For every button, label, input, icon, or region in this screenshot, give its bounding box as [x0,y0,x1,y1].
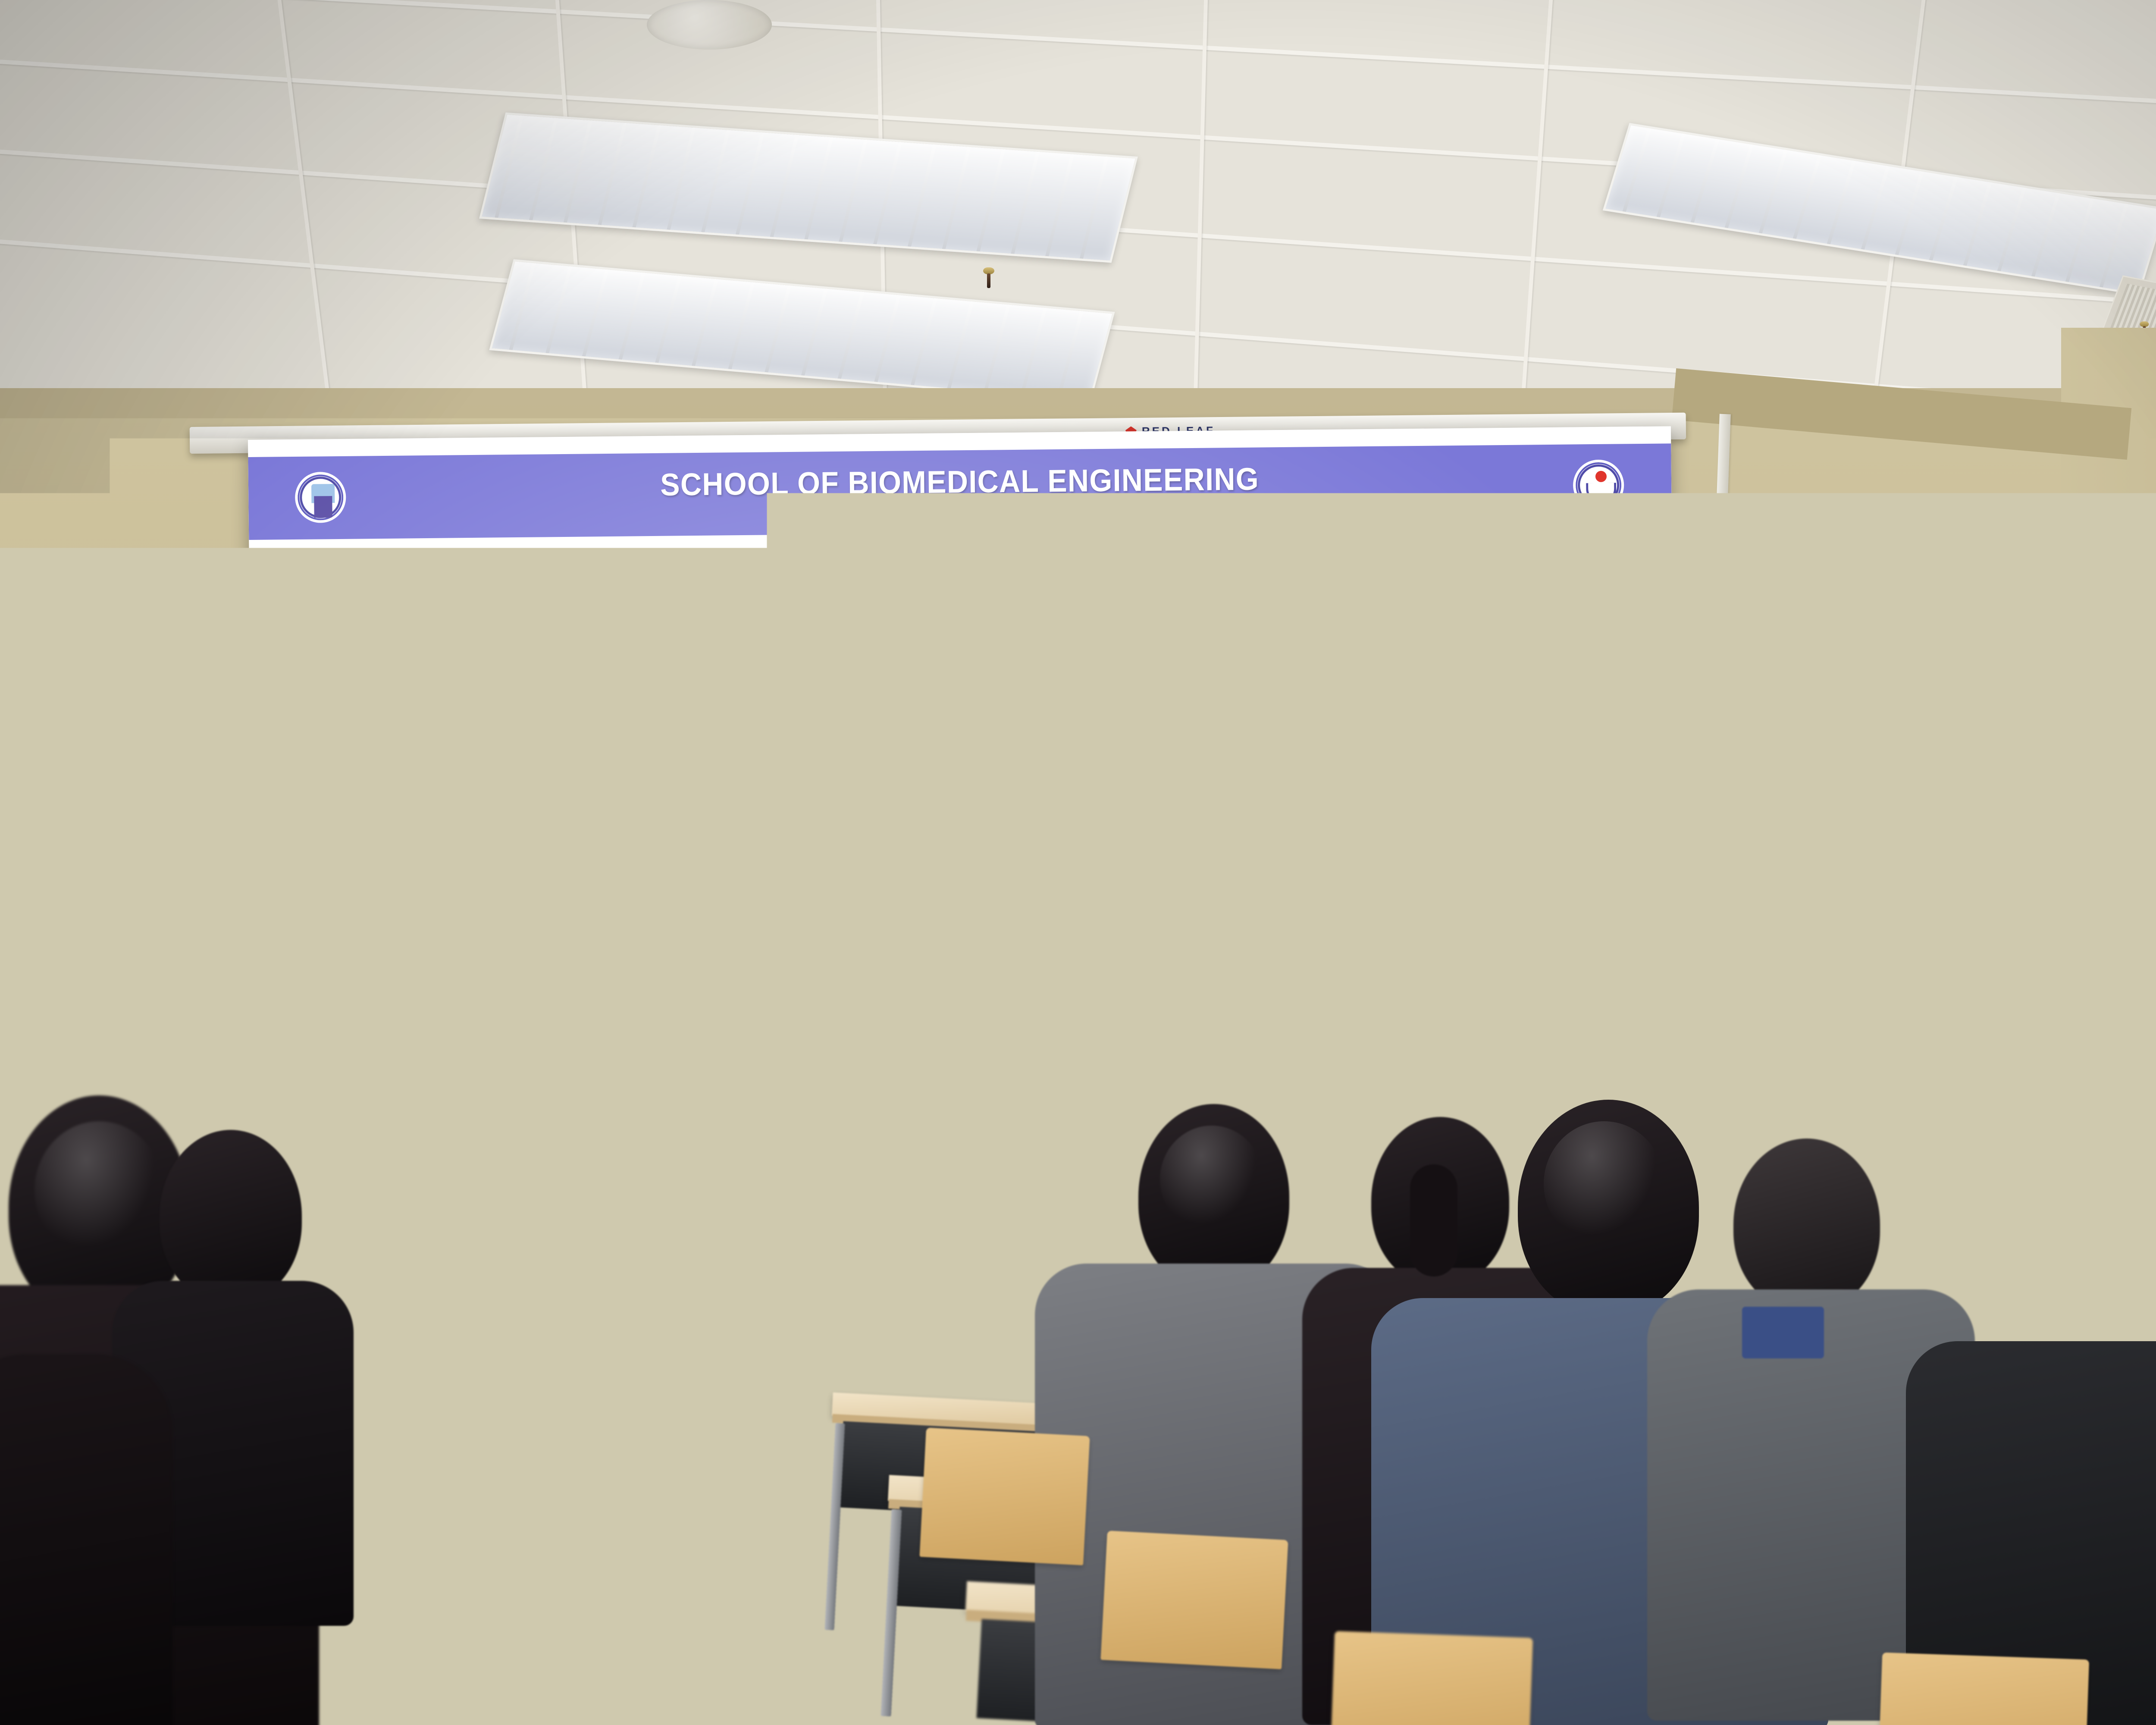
leader-photo [473,554,535,653]
staff-card: VÕ HỒNG PHÚC Laboratory Technician Email… [846,1005,900,1069]
faculty-card: HÀ THỊ THANH HƯƠNG Department Chair PhD,… [784,637,865,750]
faculty-name: HÀ THỊ THANH HƯƠNG [785,685,865,693]
staff-role: Laboratory Technician [710,1068,764,1073]
faculty-research-item: Image processing, laser, optical enginee… [381,811,458,816]
faculty-name: LÊ NGỌC BÍCH [461,761,539,768]
staff-name: PHẠM KHÔI NGUYÊN [1119,1050,1173,1063]
staff-email: Email: pknguyen@hcmiu.edu.vn [1119,1069,1173,1073]
secretary-card: NGUYỄN HOÀNG THÙY KHANH Secretary Email:… [441,1010,502,1084]
faculty-card: TRỊNH NHƯ THÙY PhD, Lecturer Email: tnth… [958,721,1036,821]
staff-email: Email: nttha@hcmiu.edu.vn [1051,1069,1105,1074]
secretary-card: NGUYỄN THỊ HỒNG NHUNG Secretary Email: n… [379,1011,441,1085]
leader-photo [909,549,970,649]
wall-camera-icon [1728,630,1804,668]
faculty-card: NGUYỄN THÀNH QUÁ PhD, Lecturer Email: nt… [542,715,620,819]
staff-email: Email: dntnhi@hcmiu.edu.vn [710,1073,764,1077]
leader-role: Dean [745,565,902,579]
leader-name: VÒNG BÍNH LONG [1176,546,1324,561]
faculty-research-item: Biomaterials and Scaffolds [872,817,950,822]
whiteboard-magnets[interactable] [1988,692,2003,759]
staff-card: LÊ PHƯƠNG HIỀN Teaching Assistant Email:… [914,1004,969,1075]
university-seal-icon [295,472,346,523]
faculty-research-item: Molecular biology [959,816,1036,821]
faculty-research-item: Sleep research, EEG analysis [786,745,865,750]
faculty-edu-item: Ph.D., Gachon University, Korea [959,797,1036,803]
faculty-research-item: Brain Mapping, Neuroimaging, Alzheimer a… [786,737,865,746]
faculty-edu-item: Ph.D., National Cheng Kung Univ., Taiwan [294,728,373,733]
department-title: TISSUE ENGINEERING & REGENERATIVE MEDICI… [889,684,1179,696]
faculty-card: PHẠM THỊ THU HIỀN Department Chair Assoc… [293,640,374,769]
faculty-research-item: Sound absorption, laser, biue, pitch bre… [294,747,374,756]
faculty-edu-item: Ph.D., Chonnam National University, Kore… [872,798,950,803]
staff-name: NGUYỄN LÊ Ý [574,1055,628,1063]
faculty-chair-label: Department Chair [294,695,373,701]
faculty-name: HUỲNH CHẤN KHÔN [872,767,950,775]
faculty-email: Email: lnbich@hcmiu.edu.vn [461,773,539,778]
leadership-row: VÕ VĂN TỚI Vice-Provost for Life and Hea… [249,534,1673,673]
leader-research-item: In vitro - in vivo disease models [1177,638,1325,646]
staff-name: NGUYỄN THỊ THANH HÀ [1051,1051,1105,1064]
faculty-edu-item: Ph.D., National Taiwan University [543,795,620,800]
whiteboard-line-thermal: thermal Nanoimprinting [1719,843,1956,871]
staff-role: Laboratory Technician [1119,1064,1173,1069]
staff-name: LÊ PHƯƠNG HIỀN [915,1052,968,1066]
staff-name: NGUYỄN THỊ THANH NGỌC [778,1053,832,1067]
whiteboard-sticky-note: Lab [1947,920,1999,940]
faculty-email: Email: hckhon@hcmiu.edu.vn [872,780,950,784]
faculty-email: Email: tplong@hcmiu.edu.vn [1045,778,1122,783]
faculty-email: Email: ntlua@hcmiu.edu.vn [380,774,458,779]
leader-edu-item: Ph.D., Soonchunhyang University, Korea [746,617,902,624]
secretary-email: Email: nhtkhanh@hcmiu.edu.vn [441,1079,501,1084]
technical-staff-title: TECHNICAL & TEACHING STAFF [740,965,928,980]
staff-card: LƯƠNG ĐẠI TÍN Laboratory Technician Emai… [1187,1001,1241,1066]
leader-email: Email: vblong@hcmiu.edu.vn [1176,581,1324,587]
chair [1100,1531,1288,1669]
leader-email: Email: nthiep@hcmiu.edu.vn [745,586,902,592]
staff-email: Email: ldtin@hcmiu.edu.vn [1187,1061,1241,1066]
ceiling [0,0,2156,414]
staff-name: LƯƠNG ĐẠI TÍN [1187,1049,1241,1057]
staff-card: PHẠM KHÔI NGUYÊN Laboratory Technician E… [1119,1002,1173,1073]
faculty-name: TRƯƠNG PHƯỚC LONG [1044,766,1122,773]
projection-screen: SCHOOL OF BIOMEDICAL ENGINEERING "HIGH Q… [248,426,1679,1233]
secretary-card: TỪ THỊ TUYẾT NGA Secretary Email: tttnga… [318,1011,379,1079]
slide-subtitle: "HIGH QUALITY-SUSTAINABILITY-USEFULNESS" [654,502,1266,522]
staff-email: Email: vhphuc@hcmiu.edu.vn [846,1065,900,1069]
faculty-name: NGUYỄN THÀNH QUÁ [542,760,620,768]
faculty-edu-item: Ph.D., Chonnam National University, Kore… [624,794,702,800]
faculty-edu-item: Ph.D., Suwon University, Korea [381,797,458,802]
presenter-hair [1817,970,1915,1052]
faculty-email: Email: giangtl@gmail.com [624,772,701,776]
leader-edu-item: Ph.D., University of Tsukuba, Japan [1177,612,1325,620]
faculty-name: NGÔ THỊ LỤA [380,762,458,769]
staff-name: ĐẶNG NGỌC THẢO NHI [710,1054,764,1068]
faculty-research-item: Microneedle fabrication and biomedical a… [624,809,702,814]
leader-card: VÒNG BÍNH LONG Vice-Dean Assoc. Prof. Em… [1176,546,1392,647]
leader-photo [1331,546,1392,645]
staff-email: Email: nhhuy@hcmiu.edu.vn [1255,1067,1309,1072]
staff-card: NGUYỄN THỊ THANH HÀ Laboratory Technicia… [1050,1003,1105,1074]
staff-card: NGUYỄN LÊ Ý Laboratory Technician Email:… [573,1007,628,1072]
staff-card: LÊ THỊ THÙY TIÊN Teaching Assistant Emai… [982,1004,1037,1075]
staff-role: Laboratory Technician [1255,1063,1309,1068]
secretary-name: NGUYỄN THỊ HỒNG NHUNG [380,1061,440,1075]
staff-email: Email: nttngoc@hcmiu.edu.vn [778,1072,832,1076]
leader-name: VÕ VĂN TỚI [292,554,466,569]
leader-email: Email: vvtoi@hcmiu.edu.vn [292,594,466,601]
whiteboard-left [0,702,226,1006]
staff-email: Email: lphien@hcmiu.edu.vn [915,1071,968,1075]
faculty-email: Email: ptthien@hcmiu.edu.vn [294,706,373,710]
department-title: MEDICAL INSTRUMENTATION DEPARTMENT [399,679,592,690]
faculty-name: TRỊNH NHƯ THÙY [958,766,1036,774]
faculty-card: TRẦN LÊ GIANG PhD, Lecturer Email: giang… [623,714,702,818]
chair [919,1427,1090,1565]
leader-name: NGUYỄN THỊ HIỆP [745,550,902,565]
faculty-card: HUỲNH CHẤN KHÔN PhD, Lecturer Email: hck… [871,722,950,822]
staff-name: NGUYỄN HOÀNG HUY [1255,1048,1309,1062]
faculty-card: NGÔ THỊ LỤA PhD, Lecturer Email: ntlua@h… [380,716,458,816]
faculty-research-item: Cancer nanotherapy [1045,815,1122,820]
secretary-name: TỪ THỊ TUYẾT NGA [319,1062,379,1069]
classroom-scene: RED LEAF [0,0,2156,1725]
secretary-email: Email: tttnga@hcmiu.edu.vn [319,1074,379,1079]
secretary-email: Email: nthnhung@hcmiu.edu.vn [380,1080,440,1085]
staff-name: TRẦN NGỌC VIỆT [642,1054,696,1062]
staff-email: Email: lttien@hcmiu.edu.vn [983,1070,1037,1074]
fire-sprinkler [983,267,994,290]
whiteboard-line-uv: UV - Nanoimprinting [1733,800,1978,833]
leader-role: Vice-Dean [1176,561,1324,574]
school-emblem-icon [1573,459,1624,511]
faculty-research-item: Transdermal drug delivery via microneedl… [543,810,620,815]
staff-name: LÊ THỊ THÙY TIÊN [983,1051,1037,1065]
staff-email: Email: nly@hcmiu.edu.vn [574,1067,628,1072]
staff-email: Email: tnviet@hcmiu.edu.vn [642,1066,696,1071]
faculty-research-item: Micro/Nano sensor devices: optical fiber… [462,806,539,816]
leader-role: Vice-Provost for Life and Health Science… [292,569,466,588]
secretary-name: NGUYỄN HOÀNG THÙY KHANH [441,1060,501,1074]
faculty-research-item: Medical Instrumentation [624,813,702,819]
chair [1878,1653,2089,1725]
whiteboard-line-lspr: : LSPR . [1883,887,1939,905]
faculty-edu-item: Ph.D., Stanford University, USA [785,722,865,727]
faculty-card: TRƯƠNG PHƯỚC LONG PhD, Lecturer Email: t… [1044,721,1122,820]
staff-card: NGUYỄN THỊ THANH NGỌC Laboratory Technic… [778,1005,833,1076]
slide-title: SCHOOL OF BIOMEDICAL ENGINEERING [660,461,1259,502]
staff-role: Laboratory Technician [1051,1065,1105,1070]
faculty-research-item: Organ-on-a-chip technology [543,814,620,819]
faculty-edu-item: Ph.D., National Chiao Tung University, T… [462,796,539,801]
faculty-card: LÊ NGỌC BÍCH PhD, Lecturer Email: lnbich… [461,716,539,824]
whiteboard-right: UV - Nanoimprinting thermal Nanoimprinti… [1697,733,2062,996]
staff-card: NGUYỄN HOÀNG HUY Laboratory Technician E… [1255,1000,1310,1072]
presentation-slide: SCHOOL OF BIOMEDICAL ENGINEERING "HIGH Q… [248,426,1679,1233]
faculty-research-item: Laser/LED applications [294,764,374,769]
chair [1330,1631,1533,1725]
slide-header: SCHOOL OF BIOMEDICAL ENGINEERING "HIGH Q… [248,443,1672,540]
staff-card: TRẦN NGỌC VIỆT Laboratory Technician Ema… [642,1007,696,1071]
secretaries-title: SECRETARIES [396,976,486,991]
faculty-chair-label: Department Chair [785,693,865,699]
staff-name: VÕ HỒNG PHÚC [846,1053,900,1060]
ceiling-round-vent [647,0,772,50]
faculty-name: TRẦN LÊ GIANG [624,759,701,767]
staff-card: ĐẶNG NGỌC THẢO NHI Laboratory Technician… [710,1006,765,1077]
faculty-research-item: Optics, manufacturing technology, thin f… [462,819,539,824]
faculty-email: Email: htthuong@hcmiu.edu.vn [785,704,865,709]
faculty-name: PHẠM THỊ THU HIỀN [294,687,373,694]
faculty-edu-item: Ph.D., Chonbuk National University, Kore… [1045,797,1122,802]
faculty-email: Email: tnthuy@hcmiu.edu.vn [959,779,1036,784]
faculty-email: Email: ntqua@hcmiu.edu.vn [542,772,620,777]
staff-role: Laboratory Technician [778,1067,832,1073]
